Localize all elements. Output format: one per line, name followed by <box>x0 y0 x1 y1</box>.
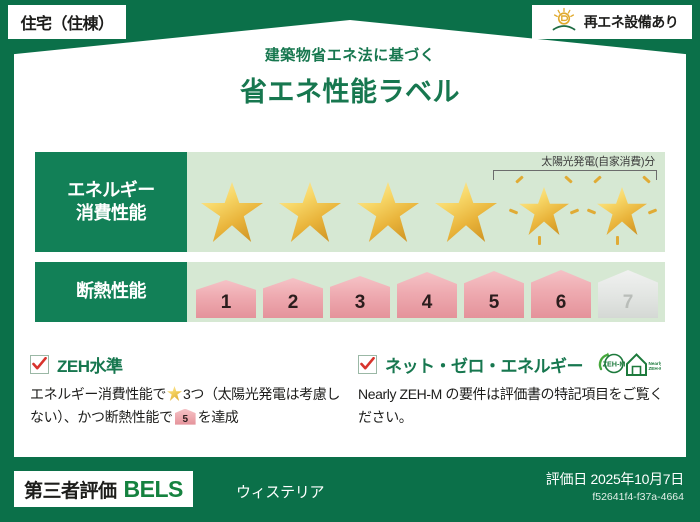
insulation-level-value: 1 <box>221 293 232 316</box>
star-icon <box>429 174 503 248</box>
criteria-nze-text: Nearly ZEH-M の要件は評価書の特記項目をご覧ください。 <box>358 383 676 428</box>
title-block: 建築物省エネ法に基づく 省エネ性能ラベル <box>0 44 700 109</box>
insulation-level: 7 <box>597 270 659 318</box>
criteria-zeh-text-part1: エネルギー消費性能で <box>30 386 166 402</box>
renewable-badge-text: 再エネ設備あり <box>584 12 679 32</box>
criteria-zeh: ZEH水準 エネルギー消費性能で3つ（太陽光発電は考慮しない）、かつ断熱性能で5… <box>30 352 342 428</box>
issuer-name: ウィステリア <box>236 481 324 502</box>
solar-star-icon <box>585 174 659 248</box>
criteria-zeh-text: エネルギー消費性能で3つ（太陽光発電は考慮しない）、かつ断熱性能で5を達成 <box>30 383 342 428</box>
bels-mark: BELS <box>124 476 183 503</box>
sun-energy-icon <box>550 7 578 38</box>
criteria-zeh-text-part3: を達成 <box>198 409 239 425</box>
building-type-chip: 住宅（住棟） <box>8 5 126 39</box>
check-icon <box>30 355 49 374</box>
star-icon <box>351 174 425 248</box>
criteria-nze-header: ネット・ゼロ・エネルギー ZEH-M Nearly ZEH-M <box>358 352 676 376</box>
insulation-levels-container: 1 2 3 4 5 6 7 <box>195 268 659 318</box>
solar-caption: 太陽光発電(自家消費)分 <box>541 153 655 169</box>
insulation-level: 5 <box>463 271 525 318</box>
insulation-level: 1 <box>195 280 257 318</box>
insulation-level-value: 6 <box>556 293 567 316</box>
check-icon <box>358 355 377 374</box>
evaluation-date: 評価日 2025年10月7日 <box>546 469 684 489</box>
criteria-zeh-header: ZEH水準 <box>30 352 342 376</box>
energy-label-line2: 消費性能 <box>76 202 146 225</box>
insulation-performance-label: 断熱性能 <box>35 262 187 322</box>
stars-container <box>193 174 661 248</box>
house-level-icon: 5 <box>175 409 196 425</box>
insulation-level-value: 7 <box>623 293 634 316</box>
energy-stars-panel: 太陽光発電(自家消費)分 <box>187 152 665 252</box>
insulation-level: 6 <box>530 270 592 318</box>
star-icon <box>167 386 182 401</box>
star-icon <box>195 174 269 248</box>
renewable-equipment-chip: 再エネ設備あり <box>532 5 692 39</box>
title-subtitle: 建築物省エネ法に基づく <box>0 44 700 65</box>
insulation-performance-row: 断熱性能 1 2 3 4 5 6 <box>35 262 665 322</box>
solar-star-icon <box>507 174 581 248</box>
title-main: 省エネ性能ラベル <box>0 70 700 109</box>
footer-bar: 第三者評価 BELS ウィステリア 評価日 2025年10月7日 f52641f… <box>0 457 700 522</box>
insulation-level: 2 <box>262 278 324 318</box>
building-type-text: 住宅（住棟） <box>20 10 113 34</box>
energy-performance-label: 住宅（住棟） 再エネ設備あり 建築物省エネ法に基づく 省エネ性能ラベル <box>0 0 700 522</box>
bels-chip: 第三者評価 BELS <box>14 471 193 507</box>
energy-performance-row: エネルギー 消費性能 太陽光発電(自家消費)分 <box>35 152 665 252</box>
criteria-zeh-title: ZEH水準 <box>57 352 123 377</box>
insulation-level-value: 5 <box>489 293 500 316</box>
svg-text:ZEH-M: ZEH-M <box>649 366 662 371</box>
energy-performance-label: エネルギー 消費性能 <box>35 152 187 252</box>
house-level-value: 5 <box>175 415 196 425</box>
criteria-net-zero-energy: ネット・ゼロ・エネルギー ZEH-M Nearly ZEH-M Nearly Z… <box>358 352 676 428</box>
star-icon <box>273 174 347 248</box>
insulation-level-value: 4 <box>422 293 433 316</box>
bels-label: 第三者評価 <box>24 476 117 503</box>
energy-label-line1: エネルギー <box>67 179 155 202</box>
zeh-m-logo: ZEH-M Nearly ZEH-M <box>597 349 661 379</box>
insulation-level: 4 <box>396 272 458 318</box>
criteria-nze-title: ネット・ゼロ・エネルギー <box>385 352 583 377</box>
insulation-level-value: 3 <box>355 293 366 316</box>
evaluation-id: f52641f4-f37a-4664 <box>592 491 684 503</box>
insulation-levels-panel: 1 2 3 4 5 6 7 <box>187 262 665 322</box>
insulation-level-value: 2 <box>288 293 299 316</box>
insulation-level: 3 <box>329 276 391 318</box>
svg-text:ZEH-M: ZEH-M <box>603 360 626 369</box>
insulation-label-text: 断熱性能 <box>76 280 146 303</box>
